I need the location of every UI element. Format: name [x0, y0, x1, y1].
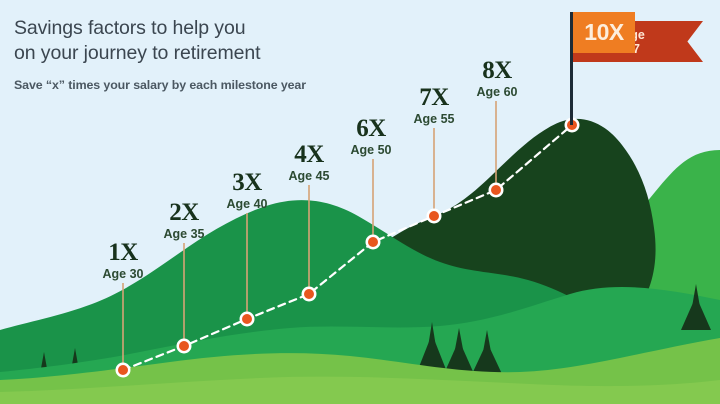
page-subtitle: Save “x” times your salary by each miles… — [14, 78, 306, 92]
milestone-age-30: Age 30 — [103, 267, 144, 282]
milestone-age-55: Age 55 — [414, 112, 455, 127]
milestone-multiple-2x: 2X — [164, 200, 205, 226]
page-title-line-2: on your journey to retirement — [14, 41, 306, 66]
milestone-label-age-30: 1X Age 30 — [103, 240, 144, 282]
marker-age-60[interactable] — [489, 183, 504, 198]
milestone-label-age-50: 6X Age 50 — [351, 116, 392, 158]
milestone-label-age-60: 8X Age 60 — [477, 58, 518, 100]
milestone-age-40: Age 40 — [227, 197, 268, 212]
milestone-label-age-35: 2X Age 35 — [164, 200, 205, 242]
page-title-line-1: Savings factors to help you — [14, 16, 306, 41]
milestone-age-50: Age 50 — [351, 143, 392, 158]
milestone-age-45: Age 45 — [289, 169, 330, 184]
milestone-multiple-6x: 6X — [351, 116, 392, 142]
milestone-label-age-40: 3X Age 40 — [227, 170, 268, 212]
milestone-age-35: Age 35 — [164, 227, 205, 242]
milestone-age-60: Age 60 — [477, 85, 518, 100]
milestone-multiple-4x: 4X — [289, 142, 330, 168]
milestone-label-age-45: 4X Age 45 — [289, 142, 330, 184]
marker-age-50[interactable] — [366, 235, 381, 250]
milestone-multiple-1x: 1X — [103, 240, 144, 266]
flag-multiple-text: 10X — [584, 19, 623, 46]
milestone-multiple-7x: 7X — [414, 85, 455, 111]
marker-age-35[interactable] — [177, 339, 192, 354]
marker-age-30[interactable] — [116, 363, 131, 378]
flag-banner-multiple: 10X — [573, 12, 635, 53]
milestone-multiple-3x: 3X — [227, 170, 268, 196]
marker-age-40[interactable] — [240, 312, 255, 327]
header-block: Savings factors to help you on your jour… — [14, 16, 306, 92]
marker-age-45[interactable] — [302, 287, 317, 302]
marker-age-55[interactable] — [427, 209, 442, 224]
savings-factors-infographic: Savings factors to help you on your jour… — [0, 0, 720, 404]
milestone-label-age-55: 7X Age 55 — [414, 85, 455, 127]
milestone-multiple-8x: 8X — [477, 58, 518, 84]
